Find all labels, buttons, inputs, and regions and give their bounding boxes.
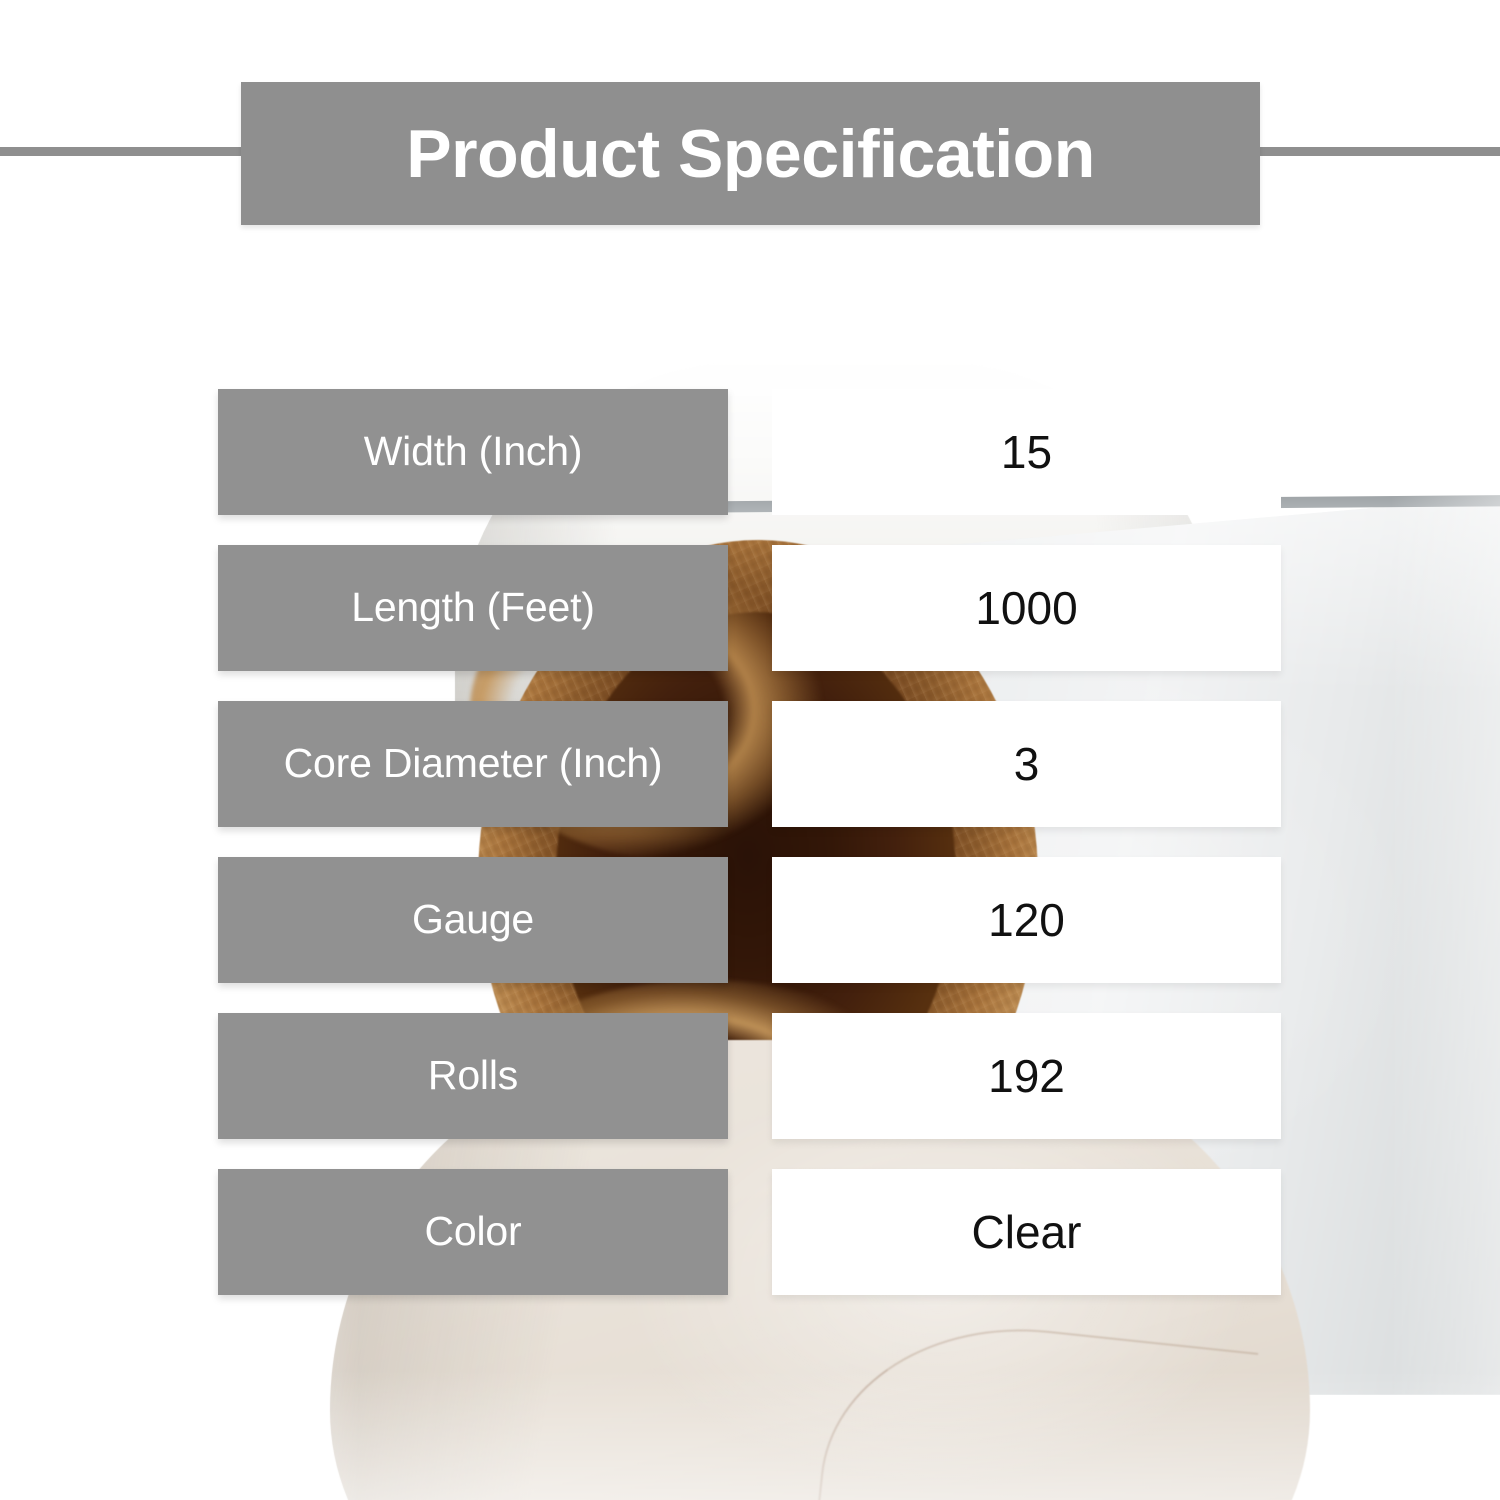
spec-value-width: 15 (772, 389, 1281, 515)
spec-label-core-diameter: Core Diameter (Inch) (218, 701, 728, 827)
spec-label-text: Length (Feet) (351, 586, 595, 629)
table-row: Core Diameter (Inch) 3 (0, 701, 1500, 827)
spec-value-text: 1000 (975, 585, 1077, 631)
spec-label-text: Gauge (412, 898, 534, 941)
table-row: Gauge 120 (0, 857, 1500, 983)
spec-value-text: 120 (988, 897, 1065, 943)
page-title: Product Specification (406, 120, 1095, 188)
spec-label-text: Color (425, 1210, 522, 1253)
spec-label-gauge: Gauge (218, 857, 728, 983)
title-banner: Product Specification (241, 82, 1260, 225)
table-row: Width (Inch) 15 (0, 389, 1500, 515)
spec-label-color: Color (218, 1169, 728, 1295)
spec-value-text: 192 (988, 1053, 1065, 1099)
spec-label-width: Width (Inch) (218, 389, 728, 515)
table-row: Color Clear (0, 1169, 1500, 1295)
spec-value-text: 15 (1001, 429, 1052, 475)
spec-value-gauge: 120 (772, 857, 1281, 983)
spec-label-text: Width (Inch) (364, 430, 583, 473)
spec-label-text: Rolls (428, 1054, 518, 1097)
spec-label-text: Core Diameter (Inch) (284, 742, 663, 785)
spec-label-length: Length (Feet) (218, 545, 728, 671)
product-specification-image: Product Specification Width (Inch) 15 Le… (0, 0, 1500, 1500)
table-row: Rolls 192 (0, 1013, 1500, 1139)
table-row: Length (Feet) 1000 (0, 545, 1500, 671)
spec-value-text: 3 (1014, 741, 1040, 787)
spec-value-text: Clear (972, 1209, 1082, 1255)
spec-value-color: Clear (772, 1169, 1281, 1295)
specification-table: Width (Inch) 15 Length (Feet) 1000 Core … (0, 389, 1500, 1325)
spec-value-rolls: 192 (772, 1013, 1281, 1139)
spec-value-length: 1000 (772, 545, 1281, 671)
spec-value-core-diameter: 3 (772, 701, 1281, 827)
spec-label-rolls: Rolls (218, 1013, 728, 1139)
